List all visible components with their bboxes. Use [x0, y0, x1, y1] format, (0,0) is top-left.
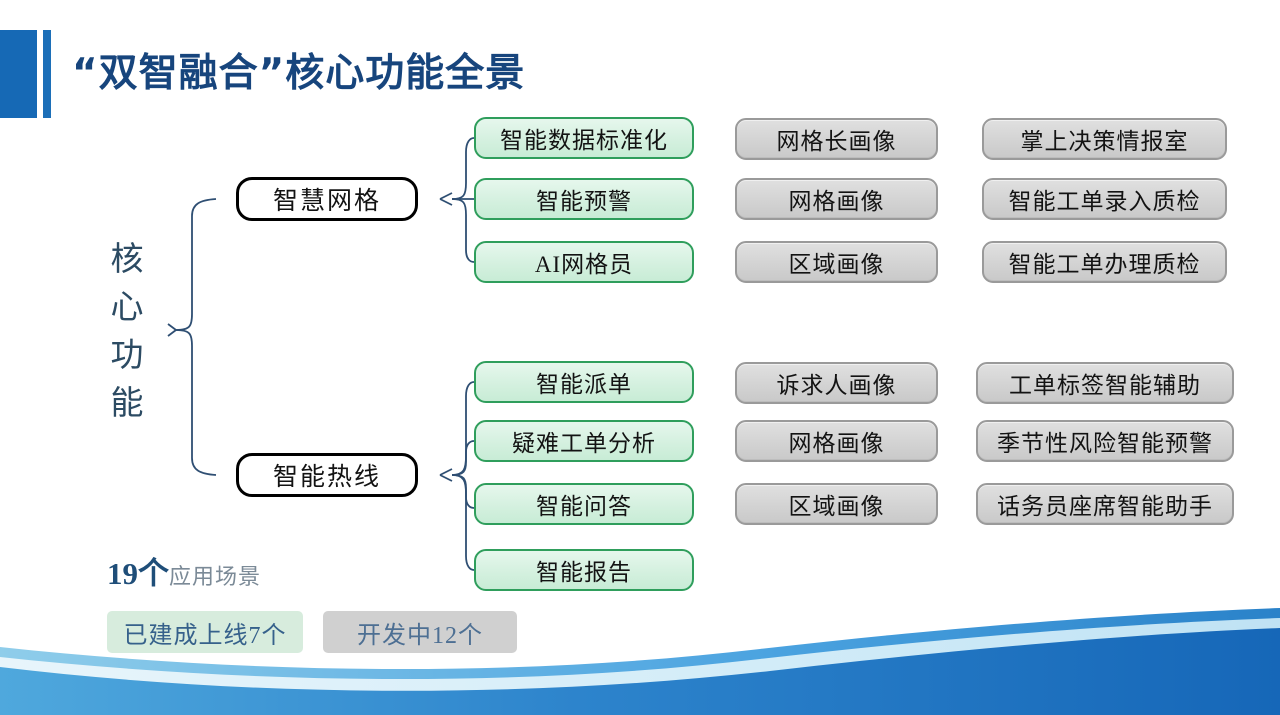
slide-canvas: “双智融合”核心功能全景 核 心 功 能 智慧网格	[0, 0, 1280, 715]
portrait-node[interactable]: 诉求人画像	[735, 362, 938, 404]
feature-node[interactable]: 疑难工单分析	[474, 420, 694, 462]
feature-node-label: 智能问答	[536, 487, 632, 521]
root-label-char-3: 功	[104, 332, 150, 380]
portrait-node-label: 网格画像	[789, 182, 885, 216]
feature-node-label: 智能预警	[536, 182, 632, 216]
portrait-node[interactable]: 区域画像	[735, 483, 938, 525]
application-node-label: 话务员座席智能助手	[997, 487, 1213, 521]
application-node[interactable]: 智能工单办理质检	[982, 241, 1227, 283]
application-node[interactable]: 工单标签智能辅助	[976, 362, 1234, 404]
branch-node-smart-hotline[interactable]: 智能热线	[236, 453, 418, 497]
branch-node-label: 智慧网格	[273, 181, 381, 217]
branch-node-smart-grid[interactable]: 智慧网格	[236, 177, 418, 221]
scenario-count: 19个应用场景	[107, 548, 261, 593]
root-label-char-4: 能	[104, 380, 150, 428]
portrait-node-label: 区域画像	[789, 245, 885, 279]
feature-node-label: 智能数据标准化	[500, 121, 668, 155]
application-node[interactable]: 掌上决策情报室	[982, 118, 1227, 160]
feature-node[interactable]: 智能报告	[474, 549, 694, 591]
application-node[interactable]: 智能工单录入质检	[982, 178, 1227, 220]
portrait-node[interactable]: 网格画像	[735, 420, 938, 462]
root-label-char-1: 核	[104, 236, 150, 284]
feature-node-label: AI网格员	[535, 245, 633, 279]
feature-node[interactable]: 智能预警	[474, 178, 694, 220]
portrait-node[interactable]: 网格画像	[735, 178, 938, 220]
feature-node-label: 智能报告	[536, 553, 632, 587]
application-node[interactable]: 季节性风险智能预警	[976, 420, 1234, 462]
application-node[interactable]: 话务员座席智能助手	[976, 483, 1234, 525]
header-accent-bar-thin	[43, 30, 51, 118]
header-accent-bar-thick	[0, 30, 37, 118]
feature-node-label: 智能派单	[536, 365, 632, 399]
branch-node-label: 智能热线	[273, 457, 381, 493]
feature-node[interactable]: 智能问答	[474, 483, 694, 525]
application-node-label: 季节性风险智能预警	[997, 424, 1213, 458]
footer-wave-decoration	[0, 605, 1280, 715]
page-title: “双智融合”核心功能全景	[72, 42, 525, 98]
application-node-label: 智能工单录入质检	[1009, 182, 1201, 216]
portrait-node-label: 网格画像	[789, 424, 885, 458]
feature-node-label: 疑难工单分析	[512, 424, 656, 458]
application-node-label: 掌上决策情报室	[1021, 122, 1189, 156]
root-label-char-2: 心	[104, 284, 150, 332]
scenario-count-number: 19个	[107, 556, 169, 591]
feature-node[interactable]: 智能派单	[474, 361, 694, 403]
application-node-label: 工单标签智能辅助	[1009, 366, 1201, 400]
scenario-count-suffix: 应用场景	[169, 564, 261, 589]
application-node-label: 智能工单办理质检	[1009, 245, 1201, 279]
portrait-node[interactable]: 网格长画像	[735, 118, 938, 160]
feature-node[interactable]: 智能数据标准化	[474, 117, 694, 159]
feature-node[interactable]: AI网格员	[474, 241, 694, 283]
portrait-node-label: 区域画像	[789, 487, 885, 521]
portrait-node-label: 诉求人画像	[777, 366, 897, 400]
portrait-node[interactable]: 区域画像	[735, 241, 938, 283]
root-node-label: 核 心 功 能	[104, 236, 150, 428]
portrait-node-label: 网格长画像	[777, 122, 897, 156]
